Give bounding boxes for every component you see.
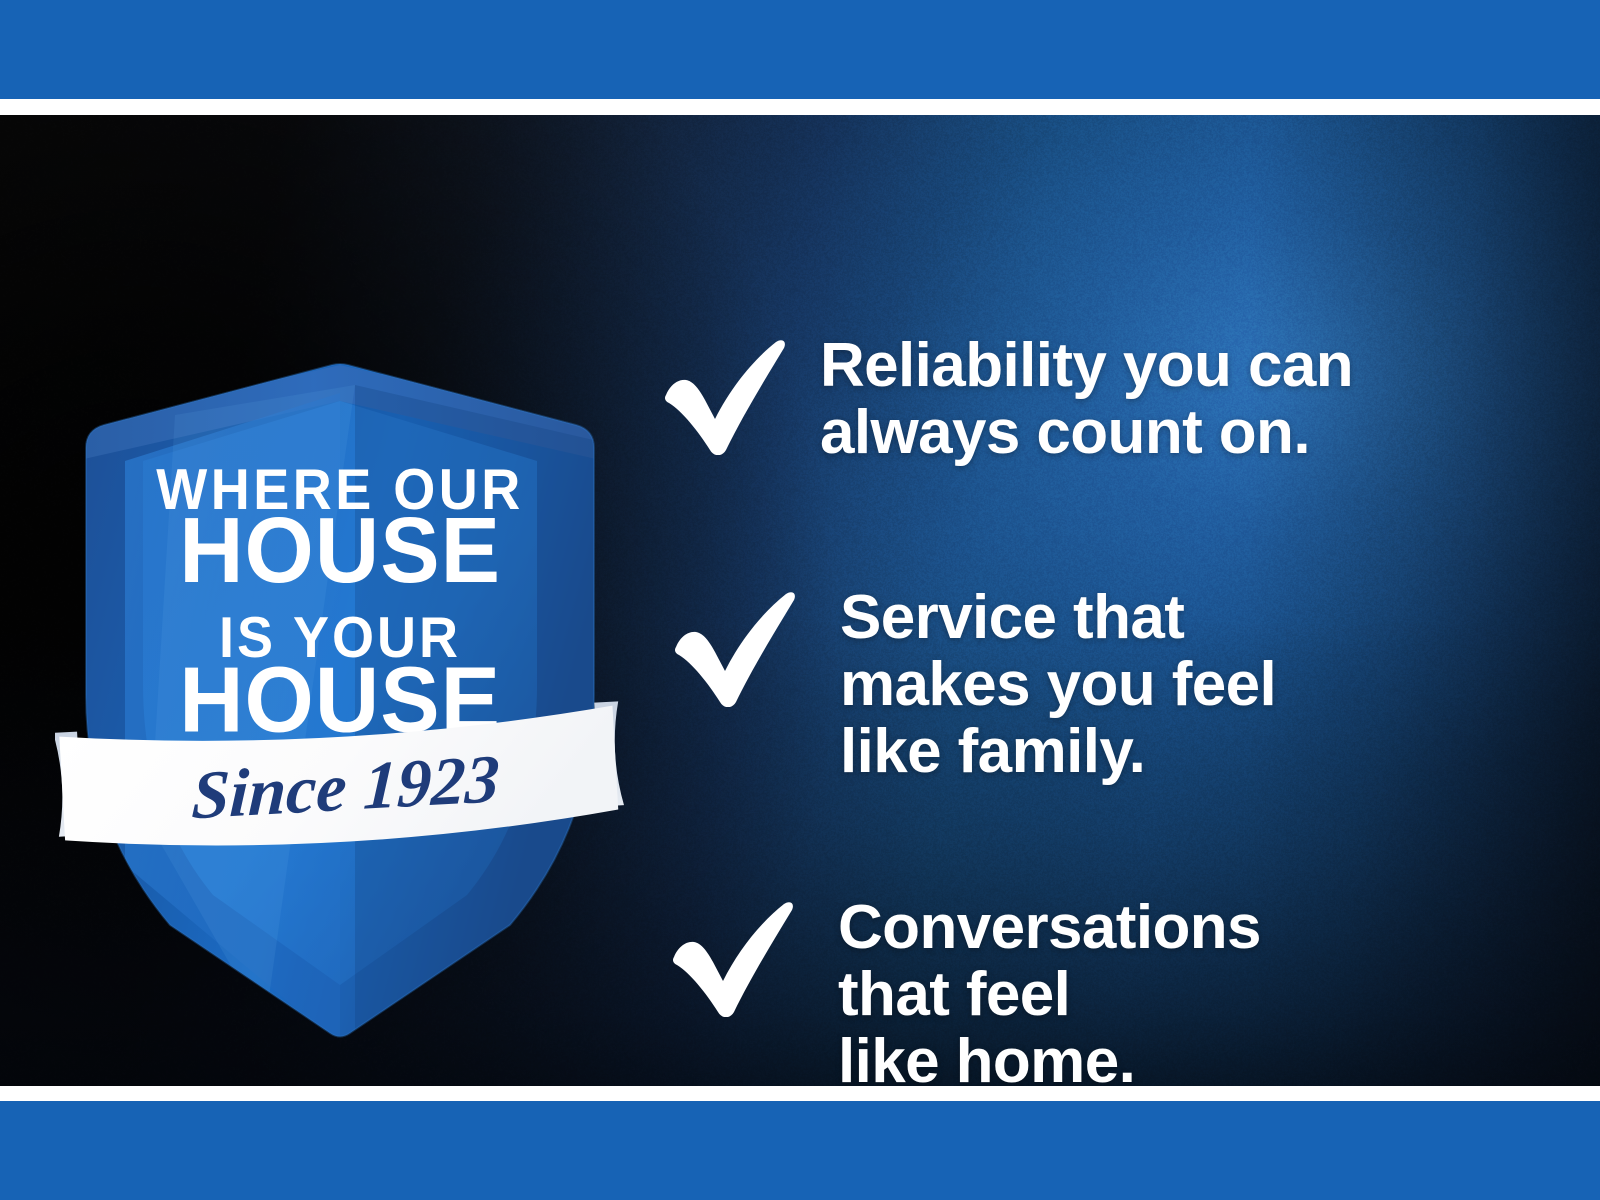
benefit-item: Reliability you can always count on. — [660, 333, 1353, 467]
benefit-item: Conversations that feel like home. — [668, 895, 1261, 1086]
bottom-brand-bar — [0, 1101, 1600, 1200]
benefits-list: Reliability you can always count on. Ser… — [660, 265, 1520, 1086]
benefit-text: Reliability you can always count on. — [820, 333, 1353, 467]
promo-graphic: WHERE OUR HOUSE IS YOUR HOUSE Since 1923 — [0, 0, 1600, 1200]
badge-line-1: HOUSE — [179, 499, 501, 602]
company-badge: WHERE OUR HOUSE IS YOUR HOUSE Since 1923 — [55, 265, 625, 1065]
checkmark-icon — [660, 337, 788, 455]
benefit-text: Service that makes you feel like family. — [840, 585, 1276, 786]
benefit-item: Service that makes you feel like family. — [670, 585, 1276, 786]
main-panel: WHERE OUR HOUSE IS YOUR HOUSE Since 1923 — [0, 115, 1600, 1086]
checkmark-icon — [670, 589, 798, 707]
checkmark-icon — [668, 899, 796, 1017]
benefit-text: Conversations that feel like home. — [838, 895, 1261, 1086]
top-brand-bar — [0, 0, 1600, 99]
